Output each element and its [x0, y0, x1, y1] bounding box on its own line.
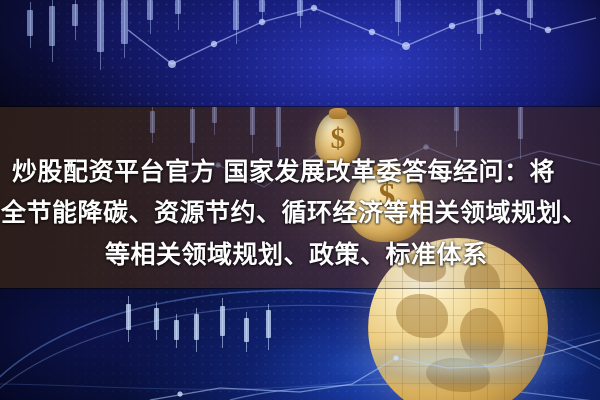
top-market-band: [0, 0, 600, 107]
headline-line-2: 全节能降碳、资源节约、循环经济等相关领域规划、: [1, 201, 588, 226]
news-banner-image: $ $: [0, 0, 600, 400]
headline-line-3: 等相关领域规划、政策、标准体系: [105, 243, 488, 268]
band-seam-lower: [0, 288, 600, 289]
line-chart-top: [0, 0, 600, 107]
headline-block: 炒股配资平台官方 国家发展改革委答每经问：将 全节能降碳、资源节约、循环经济等相…: [0, 107, 600, 288]
headline-line-1: 炒股配资平台官方 国家发展改革委答每经问：将: [12, 160, 555, 185]
bottom-globe-band: [0, 288, 600, 400]
line-chart-bottom: [0, 288, 600, 400]
